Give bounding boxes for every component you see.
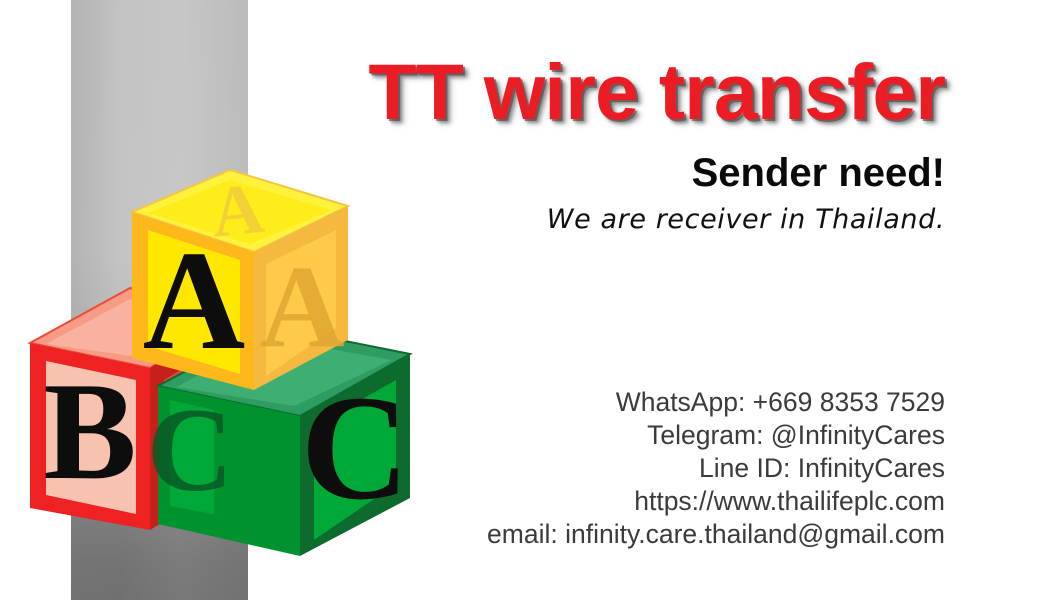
page-title: TT wire transfer [368,52,945,131]
contact-line-email: email: infinity.care.thailand@gmail.com [487,518,945,551]
tagline: We are receiver in Thailand. [547,204,945,236]
contact-list: WhatsApp: +669 8353 7529 Telegram: @Infi… [487,386,945,551]
svg-text:B: B [43,354,136,509]
poster-canvas: B C C A [0,0,1063,600]
svg-text:C: C [147,383,234,516]
svg-text:A: A [143,221,246,379]
contact-line-whatsapp: WhatsApp: +669 8353 7529 [487,386,945,419]
contact-line-telegram: Telegram: @InfinityCares [487,419,945,452]
subtitle: Sender need! [692,150,945,196]
contact-line-lineid: Line ID: InfinityCares [487,452,945,485]
text-column: TT wire transfer Sender need! We are rec… [260,0,953,600]
contact-line-website: https://www.thailifeplc.com [487,485,945,518]
